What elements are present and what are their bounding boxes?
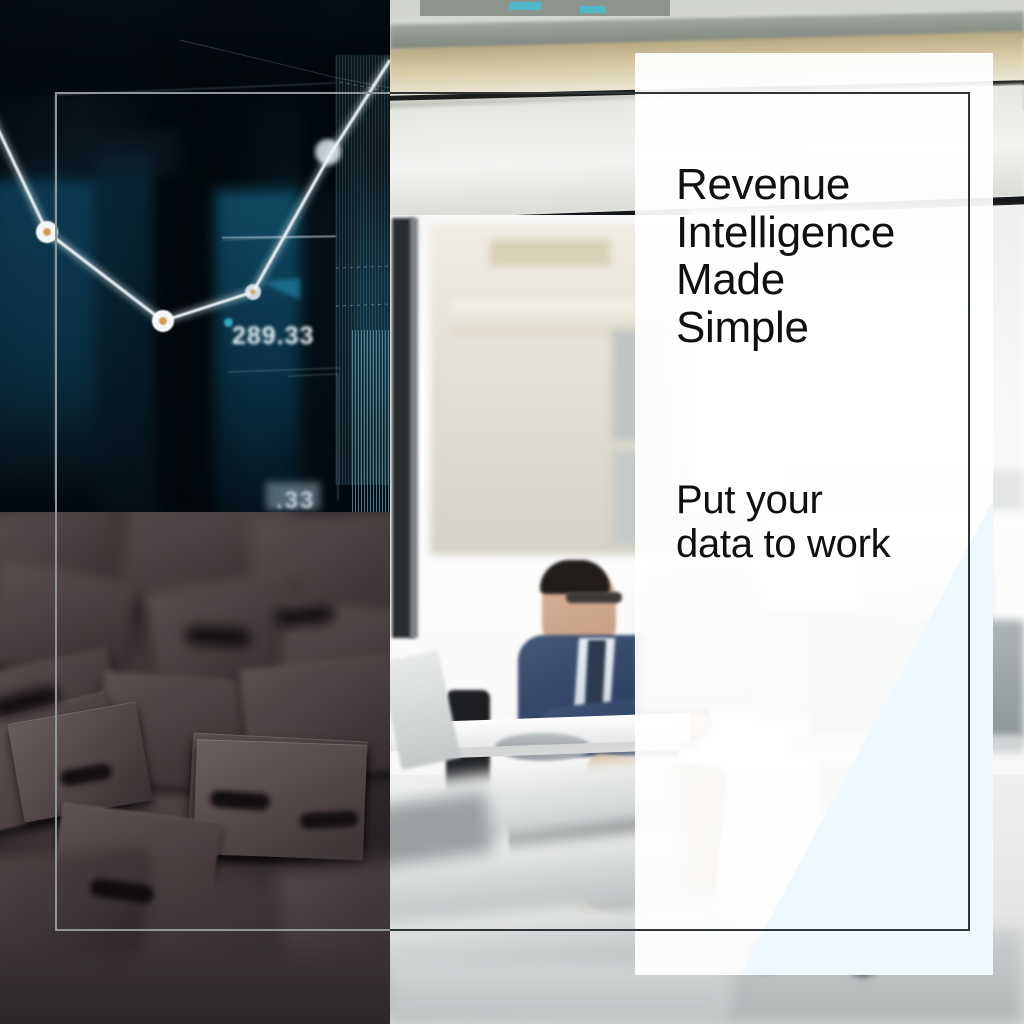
financial-chart-photo: 289.33 .33 xyxy=(0,0,390,512)
left-image-column: 289.33 .33 xyxy=(0,0,390,1024)
exterior-cornice xyxy=(490,240,610,266)
page-title: Revenue Intelligence Made Simple xyxy=(676,161,976,351)
text-panel: Revenue Intelligence Made Simple Put you… xyxy=(635,53,993,975)
subtitle: Put your data to work xyxy=(676,478,986,566)
puzzle-pieces-photo xyxy=(0,512,390,1024)
person-glasses-icon xyxy=(566,592,622,603)
ceiling-marker xyxy=(510,2,542,10)
ceiling-duct xyxy=(420,0,670,16)
chart-readout-chip xyxy=(266,482,320,510)
ceiling-marker xyxy=(580,6,606,13)
headline-line-2: Intelligence xyxy=(676,209,976,257)
puzzle-cut xyxy=(185,625,252,647)
window-mullion-edge xyxy=(410,218,418,638)
puzzle-cut xyxy=(300,810,359,829)
subhead-line-2: data to work xyxy=(676,522,986,566)
line-chart-graphic xyxy=(0,0,390,512)
headline-line-4: Simple xyxy=(676,304,976,352)
headline-line-3: Made xyxy=(676,256,976,304)
poster-canvas: 289.33 .33 xyxy=(0,0,1024,1024)
puzzle-foreground-shadow xyxy=(0,952,390,1024)
chart-readout-bullet-icon xyxy=(224,318,233,327)
subhead-line-1: Put your xyxy=(676,478,986,522)
headline-line-1: Revenue xyxy=(676,161,976,209)
chart-readout-primary: 289.33 xyxy=(232,322,314,351)
